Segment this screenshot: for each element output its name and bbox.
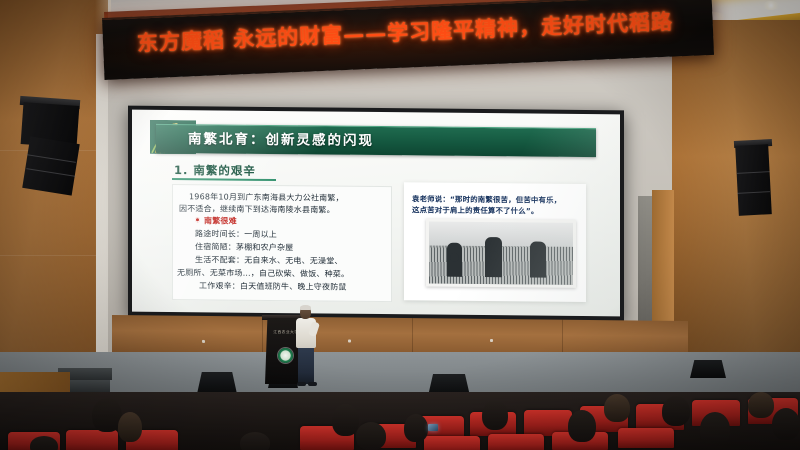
seat — [66, 430, 118, 450]
seat — [488, 434, 544, 450]
body-item: 路途时间长：一周以上 — [195, 228, 277, 240]
slide-quote-box: 袁老师说：“那时的南繁很苦，但苦中有乐， 这点苦对于肩上的责任算不了什么”。 — [404, 182, 586, 302]
slide-section-heading: 1. 南繁的艰辛 — [174, 162, 256, 179]
wall-fixture-dot — [348, 339, 351, 342]
photo-figure-head — [533, 253, 542, 262]
audience-head — [404, 414, 428, 442]
left-wall-shading — [0, 0, 108, 400]
audience-head — [772, 408, 800, 440]
audience-area — [0, 392, 800, 450]
audience-head — [240, 432, 270, 450]
wall-fixture-dot — [202, 340, 205, 343]
seat — [424, 436, 480, 450]
body-paragraph-line: 因不适合，继续南下到达海南陵水县南繁。 — [179, 203, 335, 215]
photo-figure-head — [450, 252, 459, 261]
audience-head — [700, 412, 730, 446]
right-line-array-speaker — [735, 144, 772, 216]
body-item: 生活不配套：无自来水、无电、无澡堂、 — [195, 254, 343, 266]
lecture-hall-photo: 东方魔稻 永远的财富——学习隆平精神，走好时代稻路 南繁北育：创新灵感的闪现 1… — [0, 0, 800, 450]
quote-line: 这点苦对于肩上的责任算不了什么”。 — [412, 204, 539, 216]
presentation-slide: 南繁北育：创新灵感的闪现 1. 南繁的艰辛 1968年10月到广东南海县大力公社… — [132, 110, 620, 317]
historical-photo-image — [429, 222, 573, 285]
seat — [618, 428, 674, 448]
university-crest-icon — [278, 348, 293, 363]
presenter-shoe — [297, 382, 306, 386]
downlight-icon — [762, 1, 780, 10]
slide-body-box: 1968年10月到广东南海县大力公社南繁， 因不适合，继续南下到达海南陵水县南繁… — [172, 184, 392, 302]
audience-head — [30, 436, 58, 450]
wall-seam — [0, 255, 108, 256]
stage-monitor-speaker — [197, 372, 237, 394]
audience-head — [604, 394, 630, 422]
body-paragraph-line: 1968年10月到广东南海县大力公社南繁， — [189, 191, 344, 203]
audience-head — [568, 410, 596, 442]
body-item: 无厕所、无菜市场…，自己砍柴、做饭、种菜。 — [177, 267, 349, 280]
audience-head — [118, 412, 142, 442]
slide-title: 南繁北育：创新灵感的闪现 — [188, 127, 588, 151]
audience-head — [662, 396, 690, 426]
audience-head — [482, 400, 508, 430]
body-item: 工作艰辛：白天值班防牛、晚上守夜防鼠 — [199, 280, 347, 292]
presenter-hair — [300, 305, 311, 310]
section-underline — [172, 178, 276, 181]
audience-head — [356, 422, 386, 450]
presenter-shoe — [308, 382, 317, 386]
wall-fixture-dot — [490, 339, 493, 342]
body-item: 住宿简陋：茅棚和农户杂屋 — [195, 241, 293, 253]
historical-photo — [426, 218, 576, 287]
presenter-legs — [298, 346, 314, 384]
audience-head — [332, 404, 359, 436]
stage-monitor-speaker — [690, 360, 726, 378]
red-bullet-icon — [195, 217, 200, 222]
body-highlight: 南繁很难 — [204, 215, 237, 226]
left-line-array-speaker — [22, 136, 80, 195]
audience-head — [748, 392, 774, 418]
audience-phone-screen — [428, 424, 438, 431]
